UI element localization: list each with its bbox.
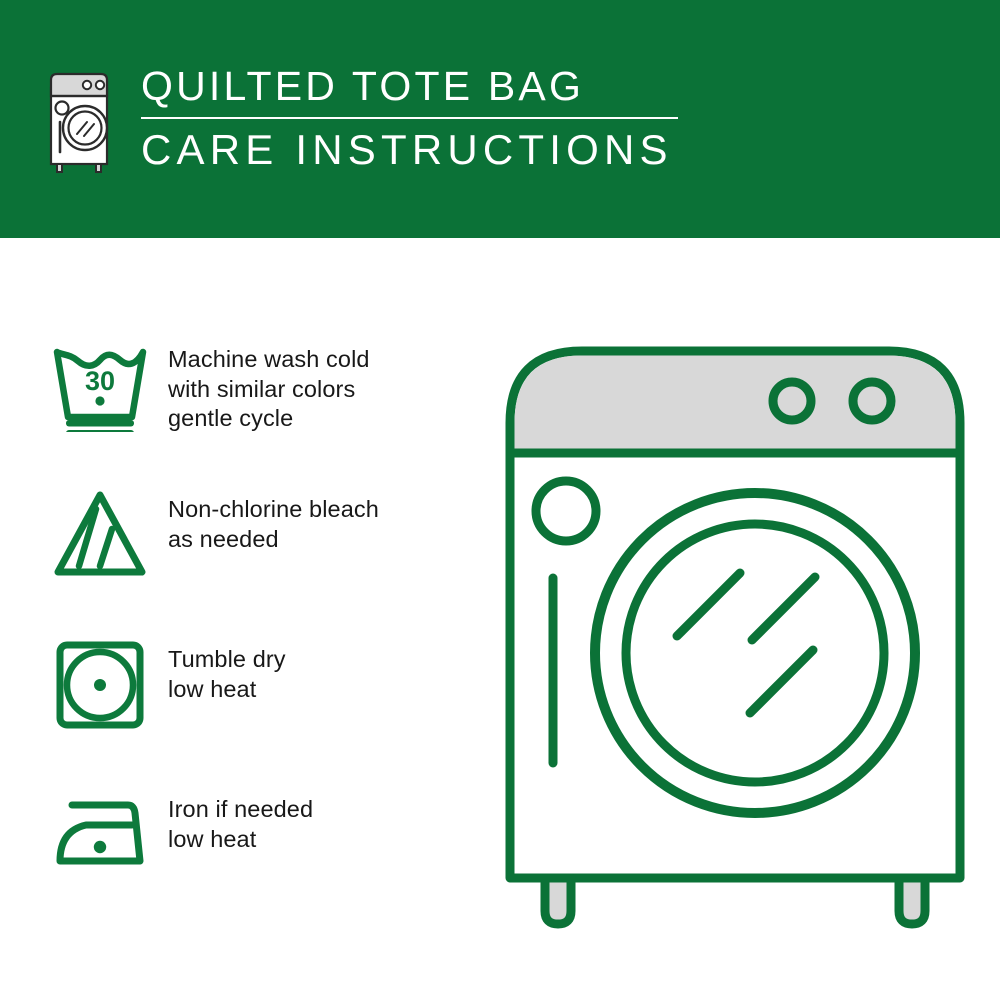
instruction-text: Non-chlorine bleach as needed <box>168 483 379 554</box>
non-chlorine-bleach-triangle-icon <box>50 487 150 582</box>
instruction-text: Tumble dry low heat <box>168 633 286 704</box>
iron-low-heat-icon <box>50 787 150 882</box>
wash-temperature-label: 30 <box>85 366 115 396</box>
washing-machine-icon <box>45 66 119 176</box>
page-title: QUILTED TOTE BAG <box>141 62 678 110</box>
instruction-row-dry: Tumble dry low heat <box>50 633 480 783</box>
instruction-list: 30 Machine wash cold with similar colors… <box>50 333 480 933</box>
title-divider <box>141 117 678 119</box>
tumble-dry-low-heat-icon <box>50 637 150 732</box>
header-banner: QUILTED TOTE BAG CARE INSTRUCTIONS <box>0 0 1000 238</box>
page-subtitle: CARE INSTRUCTIONS <box>141 125 678 175</box>
content-area: 30 Machine wash cold with similar colors… <box>0 238 1000 1000</box>
instruction-symbol: 30 <box>50 333 168 432</box>
front-load-washing-machine-illustration <box>500 333 970 933</box>
instruction-text: Iron if needed low heat <box>168 783 313 854</box>
instruction-symbol <box>50 633 168 732</box>
instruction-symbol <box>50 483 168 582</box>
instruction-row-iron: Iron if needed low heat <box>50 783 480 933</box>
leg-left <box>545 878 571 924</box>
care-instructions-infographic: QUILTED TOTE BAG CARE INSTRUCTIONS 30 <box>0 0 1000 1000</box>
header-content: QUILTED TOTE BAG CARE INSTRUCTIONS <box>45 62 678 176</box>
title-block: QUILTED TOTE BAG CARE INSTRUCTIONS <box>141 62 678 175</box>
instruction-symbol <box>50 783 168 882</box>
instruction-text: Machine wash cold with similar colors ge… <box>168 333 370 434</box>
leg-right <box>899 878 925 924</box>
instruction-row-bleach: Non-chlorine bleach as needed <box>50 483 480 633</box>
instruction-row-wash: 30 Machine wash cold with similar colors… <box>50 333 480 483</box>
wash-tub-30-gentle-icon: 30 <box>50 337 150 432</box>
